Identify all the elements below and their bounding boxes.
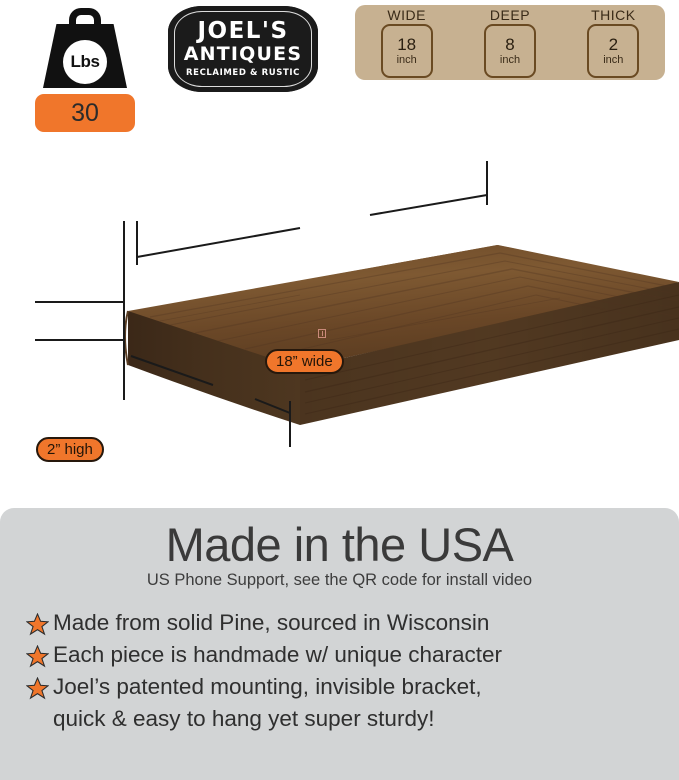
made-in-usa-heading: Made in the USA xyxy=(0,508,679,569)
bullet-text: Made from solid Pine, sourced in Wiscons… xyxy=(53,608,489,638)
dimension-unit: inch xyxy=(603,54,623,67)
bullet-indent-spacer xyxy=(26,709,49,732)
list-item: quick & easy to hang yet super sturdy! xyxy=(26,704,679,734)
info-panel: Made in the USA US Phone Support, see th… xyxy=(0,508,679,780)
dimension-value: 18 xyxy=(397,35,416,54)
dimension-chip: 2 inch xyxy=(587,24,639,78)
dimension-unit: inch xyxy=(500,54,520,67)
weight-spec-block: Lbs 30 xyxy=(30,8,140,132)
callout-width: 18” wide xyxy=(265,349,344,374)
dimension-label: WIDE xyxy=(364,7,450,23)
dimension-chip: 18 inch xyxy=(381,24,433,78)
star-bullet-icon xyxy=(26,677,49,700)
list-item: Joel’s patented mounting, invisible brac… xyxy=(26,672,679,702)
dimension-cell-deep: DEEP 8 inch xyxy=(467,7,553,78)
list-item: Each piece is handmade w/ unique charact… xyxy=(26,640,679,670)
phone-support-subheading: US Phone Support, see the QR code for in… xyxy=(0,571,679,590)
logo-line-two: ANTIQUES xyxy=(184,43,302,67)
bullet-text: Joel’s patented mounting, invisible brac… xyxy=(53,672,482,702)
logo-tagline: RECLAIMED & RUSTIC xyxy=(186,68,300,78)
brand-logo: JOEL'S ANTIQUES RECLAIMED & RUSTIC xyxy=(168,6,318,92)
top-spec-bar: Lbs 30 JOEL'S ANTIQUES RECLAIMED & RUSTI… xyxy=(0,0,679,135)
dimension-cell-thick: THICK 2 inch xyxy=(570,7,656,78)
star-bullet-icon xyxy=(26,645,49,668)
feature-bullet-list: Made from solid Pine, sourced in Wiscons… xyxy=(0,608,679,734)
star-bullet-icon xyxy=(26,613,49,636)
weight-value-badge: 30 xyxy=(35,94,135,132)
bullet-text: Each piece is handmade w/ unique charact… xyxy=(53,640,502,670)
dimension-value: 2 xyxy=(609,35,618,54)
list-item: Made from solid Pine, sourced in Wiscons… xyxy=(26,608,679,638)
logo-line-one: JOEL'S xyxy=(197,20,288,43)
anchor-marker-icon xyxy=(318,329,326,338)
product-diagram-area: 18” wide 2” high 8” deep xyxy=(0,135,679,505)
dimension-unit: inch xyxy=(397,54,417,67)
dimension-chip: 8 inch xyxy=(484,24,536,78)
weight-scale-icon: Lbs xyxy=(33,8,137,90)
dimension-label: DEEP xyxy=(467,7,553,23)
dimension-label: THICK xyxy=(570,7,656,23)
dimension-cell-wide: WIDE 18 inch xyxy=(364,7,450,78)
weight-unit-label: Lbs xyxy=(63,40,107,84)
callout-height: 2” high xyxy=(36,437,104,462)
bullet-text: quick & easy to hang yet super sturdy! xyxy=(53,704,434,734)
dimension-value: 8 xyxy=(505,35,514,54)
dimension-summary-box: WIDE 18 inch DEEP 8 inch THICK 2 inch xyxy=(355,5,665,80)
logo-badge-shape: JOEL'S ANTIQUES RECLAIMED & RUSTIC xyxy=(168,6,318,92)
